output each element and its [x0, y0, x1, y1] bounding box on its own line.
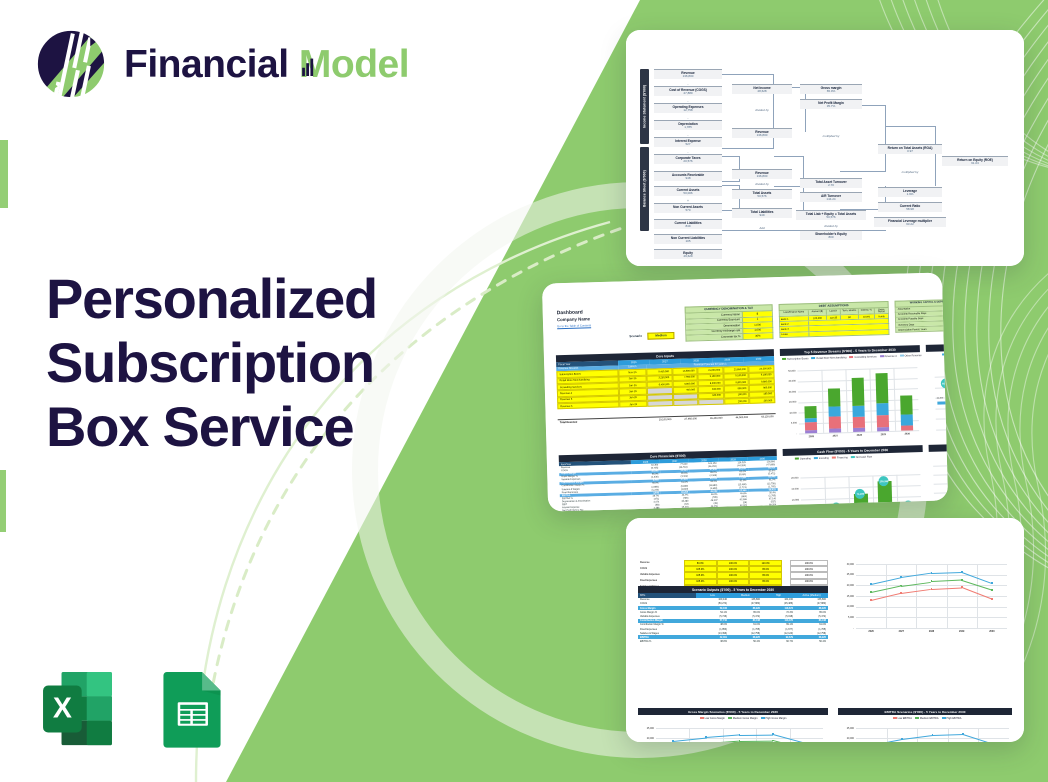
y-axis-tick: 20,000: [785, 476, 798, 479]
data-marker: [931, 588, 933, 590]
node-leverage: Leverage 1.9%: [878, 187, 942, 197]
x-axis-tick: 2030: [977, 630, 1007, 633]
line-segment: [706, 741, 739, 742]
node-depreciation: Depreciation 1,785: [654, 120, 722, 130]
circle-bar-chart-logo-icon: [34, 27, 108, 101]
data-marker: [870, 583, 872, 585]
header-block-currency: CURRENCY DENOMINATION & TAX Currency Nam…: [685, 304, 774, 341]
node-total-assets: Total Assets 50,576: [732, 189, 792, 199]
x-axis-tick: 2026: [856, 630, 886, 633]
y-axis-tick: 15,000: [786, 487, 799, 490]
operator-divided-by-1: divided by: [732, 108, 792, 112]
y-axis-tick: -: [840, 627, 854, 630]
node-interest-expense: Interest Expense 527: [654, 137, 722, 147]
data-marker: [705, 736, 707, 738]
bar-segment: [900, 414, 913, 426]
x-axis-tick: 2026: [799, 434, 823, 438]
y-axis-tick: 15,000: [840, 595, 854, 598]
y-axis-tick: 25,000: [840, 573, 854, 576]
y-axis-tick: -: [784, 432, 797, 435]
dashboard-title: Dashboard: [557, 310, 583, 316]
bar-segment: [828, 416, 841, 429]
node-non-current-liabilities: Non Current Liabilities 105: [654, 234, 722, 244]
bar-segment: [829, 428, 842, 432]
header-block-debt: DEBT ASSUMPTIONS Loan/Finance Name Amoun…: [779, 301, 890, 338]
data-marker: [962, 733, 964, 735]
node-cogs: Cost of Revenue (COGS) 47,880: [654, 86, 722, 96]
y-axis-tick: 5,000: [784, 422, 797, 425]
operator-multiplied-by-2: multiplied by: [878, 170, 942, 174]
node-revenue-turnover: Revenue 136,800: [732, 169, 792, 179]
node-total-liabilities: Total Liabilities 949: [732, 208, 792, 218]
data-marker: [739, 740, 741, 742]
panel-title-payback: Investment Payback Chart ($'000) - 5 Yea…: [929, 441, 949, 452]
microsoft-excel-icon[interactable]: X: [38, 667, 122, 751]
data-marker: [672, 740, 674, 742]
node-revenue: Revenue 136,800: [654, 69, 722, 79]
x-axis-tick: 2028: [847, 433, 871, 437]
dashboard-toc-link[interactable]: Go to the Table of Contents: [557, 324, 591, 328]
bar-segment: [828, 388, 841, 406]
core-inputs-total-row: Total Revenue 19,100,000 27,950,000 39,4…: [558, 414, 776, 426]
data-marker: [900, 592, 902, 594]
x-axis-tick: 2027: [886, 630, 916, 633]
node-equity: Equity 49,629: [654, 249, 722, 259]
data-marker: [991, 598, 993, 600]
node-accounts-receivable: Accounts Receivable 948: [654, 171, 722, 181]
chart-revenue-streams: -5,00010,00020,00030,00040,00050,0002026…: [782, 365, 922, 443]
file-format-icons: X: [38, 667, 234, 751]
x-axis-tick: 2027: [823, 434, 847, 438]
legend-gross-margin: Low Gross Margin Medium Gross Margin Hig…: [668, 717, 818, 720]
node-net-income: Net Income 48,628: [732, 84, 792, 94]
panel-title-ebitda-scenarios: EBITDA Scenarios ($'000) - 5 Years to De…: [838, 708, 1012, 715]
chart-ebitda-scenarios: -5,00010,00015,00020,00025,0002026202720…: [840, 724, 1012, 742]
y-axis-tick: 25,000: [640, 727, 654, 730]
brand-word-financial: Financial: [124, 43, 289, 86]
bar-segment: [901, 425, 914, 430]
data-marker: [772, 740, 774, 742]
page-title: Personalized Subscription Box Service: [46, 267, 377, 458]
node-total-liab-equity: Total Liab + Equity = Total Assets 50,57…: [796, 210, 866, 220]
scenario-outputs-table: KPIs Low Medium High Active (Medium) Rev…: [638, 593, 828, 644]
node-non-current-assets: Non Current Assets 570: [654, 203, 722, 213]
bar-value-label: 16,300: [937, 398, 944, 400]
data-marker: [961, 579, 963, 581]
bar-segment: [805, 418, 818, 422]
y-axis-tick: 10,000: [840, 605, 854, 608]
panel-title-gross-margin-scenarios: Gross Margin Scenarios ($'000) - 5 Years…: [638, 708, 828, 715]
operator-multiplied-by-1: multiplied by: [800, 134, 862, 138]
chart-gross-margin-scenarios: -5,00010,00015,00020,00025,0002026202720…: [640, 724, 826, 742]
node-current-liabilities: Current Liabilities 849: [654, 219, 722, 229]
x-axis-tick: 2030: [895, 432, 919, 436]
data-marker: [772, 733, 774, 735]
y-axis-tick: 20,000: [783, 401, 796, 404]
data-marker: [961, 571, 963, 573]
y-axis-tick: 25,000: [840, 727, 854, 730]
y-axis-tick: 5,000: [840, 616, 854, 619]
data-marker: [739, 734, 741, 736]
node-current-ratio: Current Ratio 58.98: [878, 202, 942, 212]
bar-segment: [852, 405, 865, 417]
screenshot-ratio-tree[interactable]: Income Statement ($'000) Balance Sheet (…: [626, 30, 1024, 266]
core-financials-table: Item/Year 2026 2027 2028 2029 2030 Reven…: [559, 456, 779, 511]
node-financial-leverage-multiplier: Financial Leverage multiplier 63.22: [874, 217, 946, 227]
bar-segment: [876, 403, 889, 415]
scenario-label: Scenario: [629, 335, 642, 338]
bar-segment: [851, 378, 864, 406]
bar-segment: [900, 396, 913, 414]
data-marker: [931, 580, 933, 582]
scenario-value[interactable]: Medium: [647, 332, 675, 340]
node-net-profit-margin: Net Profit Margin 35.7%: [800, 99, 862, 109]
y-axis-tick: 40,000: [783, 380, 796, 383]
bar-segment: [805, 422, 818, 430]
line-segment: [931, 572, 961, 574]
node-ar-turnover: A/R Turnover 144.24: [800, 192, 862, 202]
data-marker: [961, 586, 963, 588]
bar-segment: [853, 417, 866, 428]
bar-segment: [877, 427, 890, 431]
brand-wordmark: Financial Model: [124, 45, 409, 84]
operator-divided-by-3: divided by: [800, 224, 862, 228]
bar-segment: [876, 415, 889, 428]
data-marker: [991, 582, 993, 584]
y-axis-tick: 50,000: [782, 369, 795, 372]
bar-segment: [828, 406, 841, 416]
google-sheets-icon[interactable]: [150, 667, 234, 751]
node-roa: Return on Total Assets (ROA) 0.97: [878, 144, 942, 154]
data-marker: [901, 738, 903, 740]
screenshot-scenarios[interactable]: Revenue80.0%100.0%120.0%100.0%COGS105.0%…: [626, 518, 1024, 742]
node-revenue-denominator: Revenue 136,800: [732, 128, 792, 138]
x-axis-tick: 2029: [871, 432, 895, 436]
node-opex: Operating Expenses 12,758: [654, 103, 722, 113]
data-marker: [870, 599, 872, 601]
y-axis-tick: 30,000: [840, 563, 854, 566]
node-current-assets: Current Assets 50,006: [654, 186, 722, 196]
node-shareholders-equity: Shareholder's Equity 800: [800, 230, 862, 240]
chart-scenario-top-right: -5,00010,00015,00020,00025,00030,0002026…: [840, 560, 1010, 638]
data-marker: [991, 589, 993, 591]
table-row: Depreciation Period, Years 5: [895, 326, 948, 333]
dashboard-company-name: Company Name: [557, 317, 590, 322]
y-axis-tick: 20,000: [640, 737, 654, 740]
node-roe: Return on Equity (ROE) 61.03: [942, 156, 1008, 166]
data-marker: [900, 585, 902, 587]
y-axis-tick: 30,000: [783, 390, 796, 393]
data-marker: [932, 734, 934, 736]
headline-line-3: Box Service: [46, 395, 377, 459]
headline-line-1: Personalized: [46, 267, 377, 331]
header-block-working-capital: WORKING CAPITAL & DEPRECIATION Assumptio…: [895, 299, 949, 334]
node-gross-margin: Gross margin 65.0%: [800, 84, 862, 94]
screenshot-dashboard[interactable]: Dashboard Company Name Go to the Table o…: [542, 272, 948, 511]
panel-title-scenario-outputs: Scenario Outputs ($'000) - 5 Years to De…: [638, 586, 828, 593]
operator-add: Add: [732, 226, 792, 230]
brand-lockup: Financial Model: [34, 27, 409, 101]
headline-line-2: Subscription: [46, 331, 377, 395]
operator-divided-by-2: divided by: [732, 182, 792, 186]
bar-segment: [875, 373, 888, 404]
section-income-statement: Income Statement ($'000): [640, 69, 649, 144]
core-inputs-table: Fiscal Year 2026 2027 2028 2029 2030 Rev…: [556, 356, 776, 425]
y-axis-tick: 20,000: [840, 737, 854, 740]
data-marker: [931, 572, 933, 574]
x-axis-tick: 2028: [916, 630, 946, 633]
line-segment: [739, 740, 772, 741]
y-axis-tick: 10,000: [786, 498, 799, 501]
legend-ebitda: Low EBITDA Medium EBITDA High EBITDA: [862, 717, 992, 720]
bar-segment: [853, 428, 866, 432]
bar-segment: [805, 430, 818, 433]
section-balance-sheet: Balance Sheet ($'000): [640, 147, 649, 231]
x-axis-tick: 2029: [947, 630, 977, 633]
y-axis-tick: 10,000: [784, 411, 797, 414]
svg-text:X: X: [53, 692, 72, 724]
bar-chart-in-o-icon: [301, 54, 318, 76]
poster-canvas: Financial Model Personalized Subscriptio…: [0, 0, 1048, 782]
y-axis-tick: 20,000: [840, 584, 854, 587]
node-corporate-taxes: Corporate Taxes 20,576: [654, 154, 722, 164]
data-marker: [900, 576, 902, 578]
node-total-asset-turnover: Total Asset Turnover 2.70: [800, 178, 862, 188]
line-segment: [739, 734, 772, 735]
table-row: EBITDA %38.8%50.4%60.7%50.4%: [638, 639, 828, 643]
data-marker: [870, 591, 872, 593]
bar-segment: [804, 406, 817, 418]
